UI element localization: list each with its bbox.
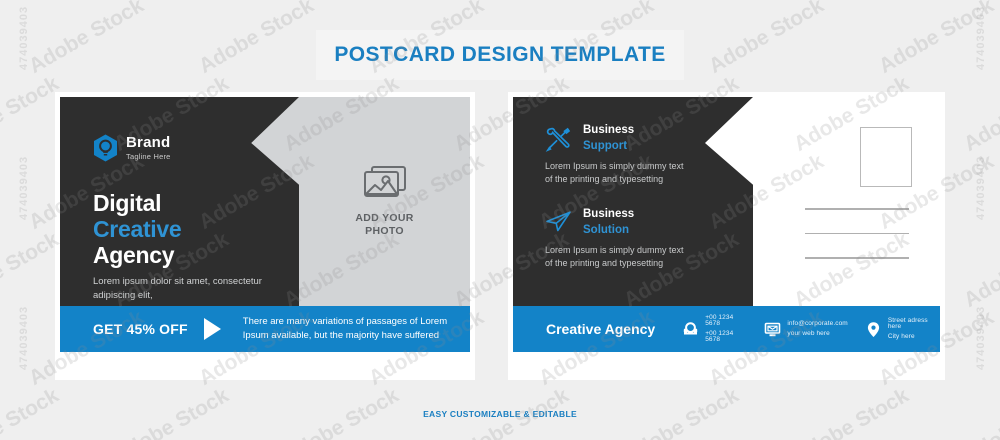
contact-address[interactable]: Street adress here City here xyxy=(865,318,940,341)
contact-email-line2: your web here xyxy=(787,331,847,338)
phone-icon xyxy=(682,321,699,338)
front-offer-bar: GET 45% OFF There are many variations of… xyxy=(60,306,470,352)
service-item-support: Business Support Lorem Ipsum is simply d… xyxy=(545,125,745,186)
contact-phone-line1: +00 1234 5678 xyxy=(705,315,747,328)
back-contact-bar: Creative Agency +00 1234 567 xyxy=(513,306,940,352)
offer-copy-line2: Ipsum available, but the majority have s… xyxy=(243,329,470,343)
service-item-solution: Business Solution Lorem Ipsum is simply … xyxy=(545,209,745,270)
play-triangle-icon[interactable] xyxy=(204,318,221,340)
service-title-line1: Business xyxy=(583,209,634,221)
service-body: Lorem Ipsum is simply dummy text of the … xyxy=(545,244,741,270)
photo-label-line2: PHOTO xyxy=(355,225,413,238)
tools-wrench-screwdriver-icon xyxy=(545,125,572,152)
page-title: POSTCARD DESIGN TEMPLATE xyxy=(334,43,665,67)
photo-placeholder[interactable]: ADD YOUR PHOTO xyxy=(299,97,470,306)
service-body: Lorem Ipsum is simply dummy text of the … xyxy=(545,160,741,186)
address-line xyxy=(805,257,909,259)
monitor-email-icon xyxy=(764,321,781,338)
service-body-line2: of the printing and typesetting xyxy=(545,257,741,270)
brand-logo[interactable]: Brand Tagline Here xyxy=(93,134,171,162)
address-lines xyxy=(805,208,909,282)
brand-tagline: Tagline Here xyxy=(126,153,171,161)
page-title-plate: POSTCARD DESIGN TEMPLATE xyxy=(316,30,684,80)
service-body-line2: of the printing and typesetting xyxy=(545,173,741,186)
image-placeholder-icon xyxy=(359,165,411,205)
address-line xyxy=(805,233,909,235)
photo-placeholder-label: ADD YOUR PHOTO xyxy=(355,212,413,238)
service-title-line2: Solution xyxy=(583,225,634,237)
service-title-line2: Support xyxy=(583,141,634,153)
front-headline: Digital Creative Agency xyxy=(93,190,181,268)
template-showcase: POSTCARD DESIGN TEMPLATE AD xyxy=(0,0,1000,440)
headline-line1: Digital xyxy=(93,190,181,216)
address-line xyxy=(805,208,909,210)
contact-address-line1: Street adress here xyxy=(888,318,940,331)
contact-phone[interactable]: +00 1234 5678 +00 1234 5678 xyxy=(682,315,747,344)
service-title-line1: Business xyxy=(583,125,634,137)
service-body-line1: Lorem Ipsum is simply dummy text xyxy=(545,160,741,173)
agency-name: Creative Agency xyxy=(546,321,655,337)
headline-line2: Creative xyxy=(93,216,181,242)
postcard-front[interactable]: ADD YOUR PHOTO xyxy=(55,92,475,380)
headline-line3: Agency xyxy=(93,242,181,268)
contact-address-line2: City here xyxy=(888,334,940,341)
contact-email-line1: info@corporate.com xyxy=(787,321,847,328)
contact-list: +00 1234 5678 +00 1234 5678 xyxy=(682,315,940,344)
offer-label: GET 45% OFF xyxy=(93,321,188,337)
contact-email[interactable]: info@corporate.com your web here xyxy=(764,321,847,338)
brand-name: Brand xyxy=(126,135,171,150)
contact-phone-line2: +00 1234 5678 xyxy=(705,331,747,344)
footer-caption: EASY CUSTOMIZABLE & EDITABLE xyxy=(0,409,1000,419)
stamp-placeholder-box[interactable] xyxy=(860,127,912,187)
front-upper-area: ADD YOUR PHOTO xyxy=(60,97,470,306)
location-pin-icon xyxy=(865,321,882,338)
front-subtext: Lorem ipsum dolor sit amet, consectetur … xyxy=(93,275,283,303)
offer-copy-line1: There are many variations of passages of… xyxy=(243,315,470,329)
paper-plane-icon xyxy=(545,209,572,236)
hexagon-bulb-logo-icon xyxy=(93,134,118,162)
offer-copy: There are many variations of passages of… xyxy=(243,315,470,343)
photo-label-line1: ADD YOUR xyxy=(355,212,413,225)
service-body-line1: Lorem Ipsum is simply dummy text xyxy=(545,244,741,257)
